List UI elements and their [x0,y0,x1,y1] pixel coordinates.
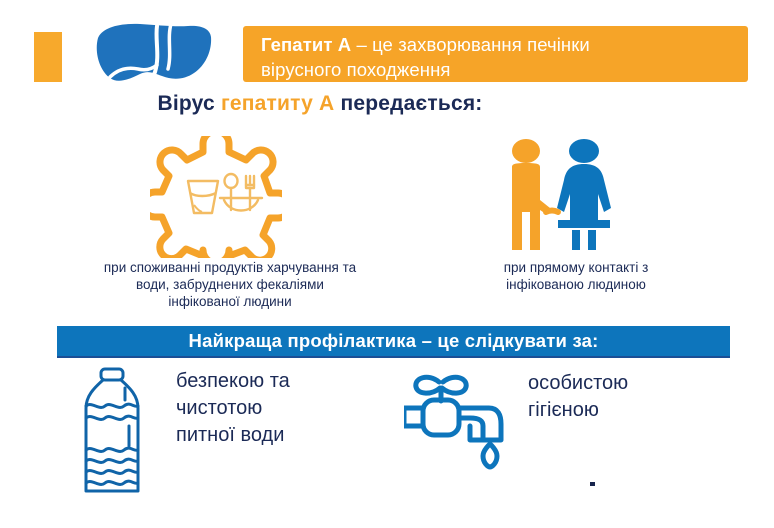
infographic-poster: Гепатит А – це захворювання печінки віру… [0,0,774,528]
caption-line: при прямому контакті з [452,259,700,276]
transmission-caption-food: при споживанні продуктів харчування та в… [50,259,410,310]
title-bold: Гепатит А [261,34,351,55]
virus-food-water-icon [150,136,282,258]
heading-highlight: гепатиту А [221,92,334,115]
prevention-line: безпекою та [176,368,351,395]
prevention-text-hygiene: особистою гігієною [528,370,718,424]
caption-line: інфікованої людини [50,293,410,310]
orange-square-marker [34,32,62,82]
prevention-banner-text: Найкраща профілактика – це слідкувати за… [189,330,599,352]
water-bottle-icon [76,366,148,494]
heading-part-2: передається: [334,92,482,115]
title-line-1: Гепатит А – це захворювання печінки [261,32,734,57]
footnote-dot [590,482,595,486]
title-banner: Гепатит А – це захворювання печінки віру… [243,26,748,82]
heading-part-1: Вірус [158,92,221,115]
prevention-text-water: безпекою та чистотою питної води [176,368,351,449]
transmission-heading: Вірус гепатиту А передається: [0,92,640,116]
prevention-line: особистою [528,370,718,397]
water-tap-icon [404,368,518,480]
prevention-line: питної води [176,422,351,449]
prevention-line: гігієною [528,397,718,424]
two-people-icon [492,138,620,256]
caption-line: води, забруднених фекаліями [50,276,410,293]
title-line-2: вірусного походження [261,57,734,82]
title-rest: – це захворювання печінки [351,34,590,55]
caption-line: інфікованою людиною [452,276,700,293]
prevention-banner: Найкраща профілактика – це слідкувати за… [57,326,730,358]
prevention-line: чистотою [176,395,351,422]
liver-icon [88,20,214,94]
transmission-caption-contact: при прямому контакті з інфікованою людин… [452,259,700,293]
caption-line: при споживанні продуктів харчування та [50,259,410,276]
